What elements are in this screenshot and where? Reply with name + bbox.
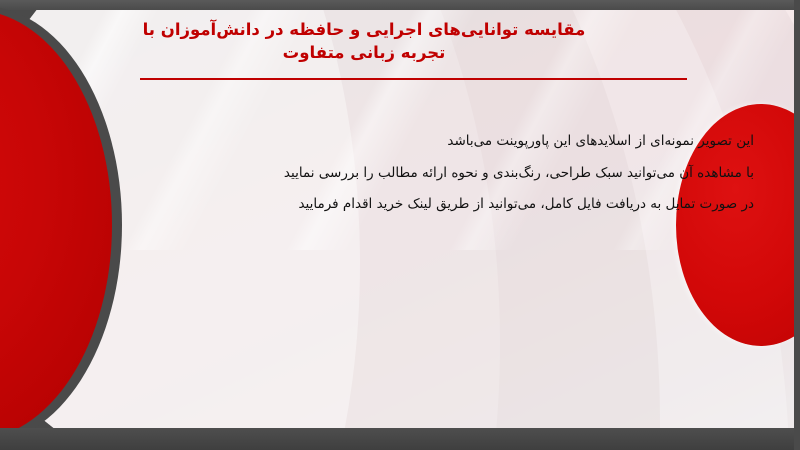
dark-frame-bottom (0, 428, 800, 450)
slide-title: مقایسه توانایی‌های اجرایی و حافظه در دان… (14, 18, 714, 65)
slide-title-line-1: مقایسه توانایی‌های اجرایی و حافظه در دان… (143, 20, 586, 39)
dark-frame-right (794, 0, 800, 450)
body-line-3: در صورت تمایل به دریافت فایل کامل، می‌تو… (14, 189, 754, 221)
title-underline-rule (140, 78, 687, 80)
presentation-slide: مقایسه توانایی‌های اجرایی و حافظه در دان… (0, 0, 800, 450)
body-line-2: با مشاهده آن می‌توانید سبک طراحی، رنگ‌بن… (14, 158, 754, 190)
slide-title-line-2: تجربه زبانی متفاوت (283, 43, 446, 62)
body-line-1: این تصویر نمونه‌ای از اسلایدهای این پاور… (14, 126, 754, 158)
dark-frame-top (0, 0, 800, 10)
slide-body-text: این تصویر نمونه‌ای از اسلایدهای این پاور… (14, 126, 754, 221)
